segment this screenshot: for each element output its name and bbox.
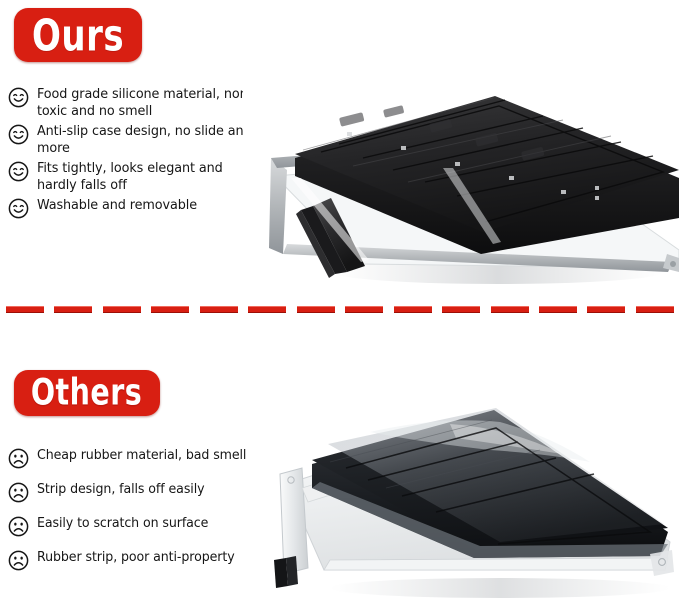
product-photo-ours bbox=[243, 58, 679, 292]
divider-dash bbox=[54, 306, 92, 313]
smiley-face-icon bbox=[8, 124, 29, 145]
feature-list-others: Cheap rubber material, bad smell Strip d… bbox=[8, 447, 276, 583]
list-item: Strip design, falls off easily bbox=[8, 481, 276, 503]
divider-dash bbox=[491, 306, 529, 313]
feature-text: Rubber strip, poor anti-property bbox=[37, 549, 235, 566]
divider-dash bbox=[200, 306, 238, 313]
list-item: Rubber strip, poor anti-property bbox=[8, 549, 276, 571]
list-item: Fits tightly, looks elegant and hardly f… bbox=[8, 160, 260, 194]
divider-dash bbox=[248, 306, 286, 313]
divider-dash bbox=[636, 306, 674, 313]
badge-ours-label: Ours bbox=[32, 13, 124, 57]
list-item: Washable and removable bbox=[8, 197, 260, 219]
list-item: Anti-slip case design, no slide any more bbox=[8, 123, 260, 157]
divider-dash bbox=[442, 306, 480, 313]
product-photo-others bbox=[250, 392, 679, 602]
list-item: Food grade silicone material, non-toxic … bbox=[8, 86, 260, 120]
feature-text: Fits tightly, looks elegant and hardly f… bbox=[37, 160, 253, 194]
divider-dash bbox=[587, 306, 625, 313]
smiley-face-icon bbox=[8, 87, 29, 108]
sad-face-icon bbox=[8, 482, 29, 503]
section-divider bbox=[6, 305, 674, 313]
list-item: Easily to scratch on surface bbox=[8, 515, 276, 537]
sad-face-icon bbox=[8, 550, 29, 571]
smiley-face-icon bbox=[8, 198, 29, 219]
list-item: Cheap rubber material, bad smell bbox=[8, 447, 276, 469]
feature-text: Anti-slip case design, no slide any more bbox=[37, 123, 253, 157]
divider-dash bbox=[297, 306, 335, 313]
feature-list-ours: Food grade silicone material, non-toxic … bbox=[8, 86, 260, 222]
badge-ours: Ours bbox=[14, 8, 142, 62]
divider-dash bbox=[151, 306, 189, 313]
divider-dash bbox=[6, 306, 44, 313]
divider-dash bbox=[539, 306, 577, 313]
badge-others: Others bbox=[14, 370, 160, 416]
sad-face-icon bbox=[8, 516, 29, 537]
smiley-face-icon bbox=[8, 161, 29, 182]
feature-text: Cheap rubber material, bad smell bbox=[37, 447, 246, 464]
badge-others-label: Others bbox=[31, 375, 142, 412]
divider-dash bbox=[345, 306, 383, 313]
comparison-infographic: Ours Food grade silicone material, non-t… bbox=[0, 0, 679, 602]
divider-dash bbox=[103, 306, 141, 313]
divider-dash bbox=[394, 306, 432, 313]
feature-text: Strip design, falls off easily bbox=[37, 481, 204, 498]
sad-face-icon bbox=[8, 448, 29, 469]
feature-text: Easily to scratch on surface bbox=[37, 515, 208, 532]
feature-text: Food grade silicone material, non-toxic … bbox=[37, 86, 253, 120]
feature-text: Washable and removable bbox=[37, 197, 197, 214]
